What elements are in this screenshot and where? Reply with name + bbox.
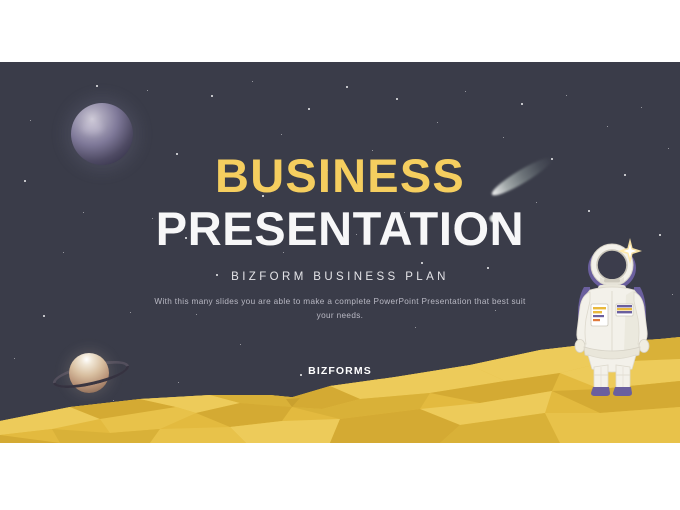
star-dot xyxy=(24,180,26,182)
star-dot xyxy=(465,91,466,92)
comet-head xyxy=(489,214,501,223)
star-dot xyxy=(346,86,348,88)
star-dot xyxy=(404,212,405,213)
star-dot xyxy=(588,210,590,212)
star-dot xyxy=(641,107,642,108)
comet-tail xyxy=(489,153,556,200)
star-dot xyxy=(308,108,310,110)
star-dot xyxy=(252,81,253,82)
star-dot xyxy=(503,137,504,138)
star-dot xyxy=(566,95,567,96)
star-dot xyxy=(96,85,98,87)
presentation-slide: BUSINESS PRESENTATION BIZFORM BUSINESS P… xyxy=(0,62,680,443)
star-dot xyxy=(356,234,357,235)
purple-planet-icon xyxy=(71,103,133,165)
star-dot xyxy=(281,134,282,135)
star-dot xyxy=(152,218,153,219)
screenshot-canvas: BUSINESS PRESENTATION BIZFORM BUSINESS P… xyxy=(0,0,680,510)
star-dot xyxy=(421,262,423,264)
star-dot xyxy=(396,98,398,100)
star-dot xyxy=(624,174,626,176)
star-dot xyxy=(672,294,673,295)
star-dot xyxy=(460,230,461,231)
astronaut-figure xyxy=(560,235,664,398)
star-dot xyxy=(437,122,438,123)
star-dot xyxy=(176,153,178,155)
star-dot xyxy=(262,195,264,197)
star-dot xyxy=(487,267,489,269)
comet-icon xyxy=(486,160,562,232)
star-dot xyxy=(185,237,187,239)
star-dot xyxy=(211,95,213,97)
star-dot xyxy=(63,252,64,253)
star-dot xyxy=(83,212,84,213)
star-dot xyxy=(607,126,608,127)
star-dot xyxy=(147,90,148,91)
star-dot xyxy=(668,148,669,149)
star-dot xyxy=(30,120,31,121)
star-dot xyxy=(283,252,284,253)
star-dot xyxy=(216,274,218,276)
star-dot xyxy=(455,180,457,182)
star-dot xyxy=(327,170,328,171)
star-dot xyxy=(372,150,373,151)
star-dot xyxy=(521,103,523,105)
